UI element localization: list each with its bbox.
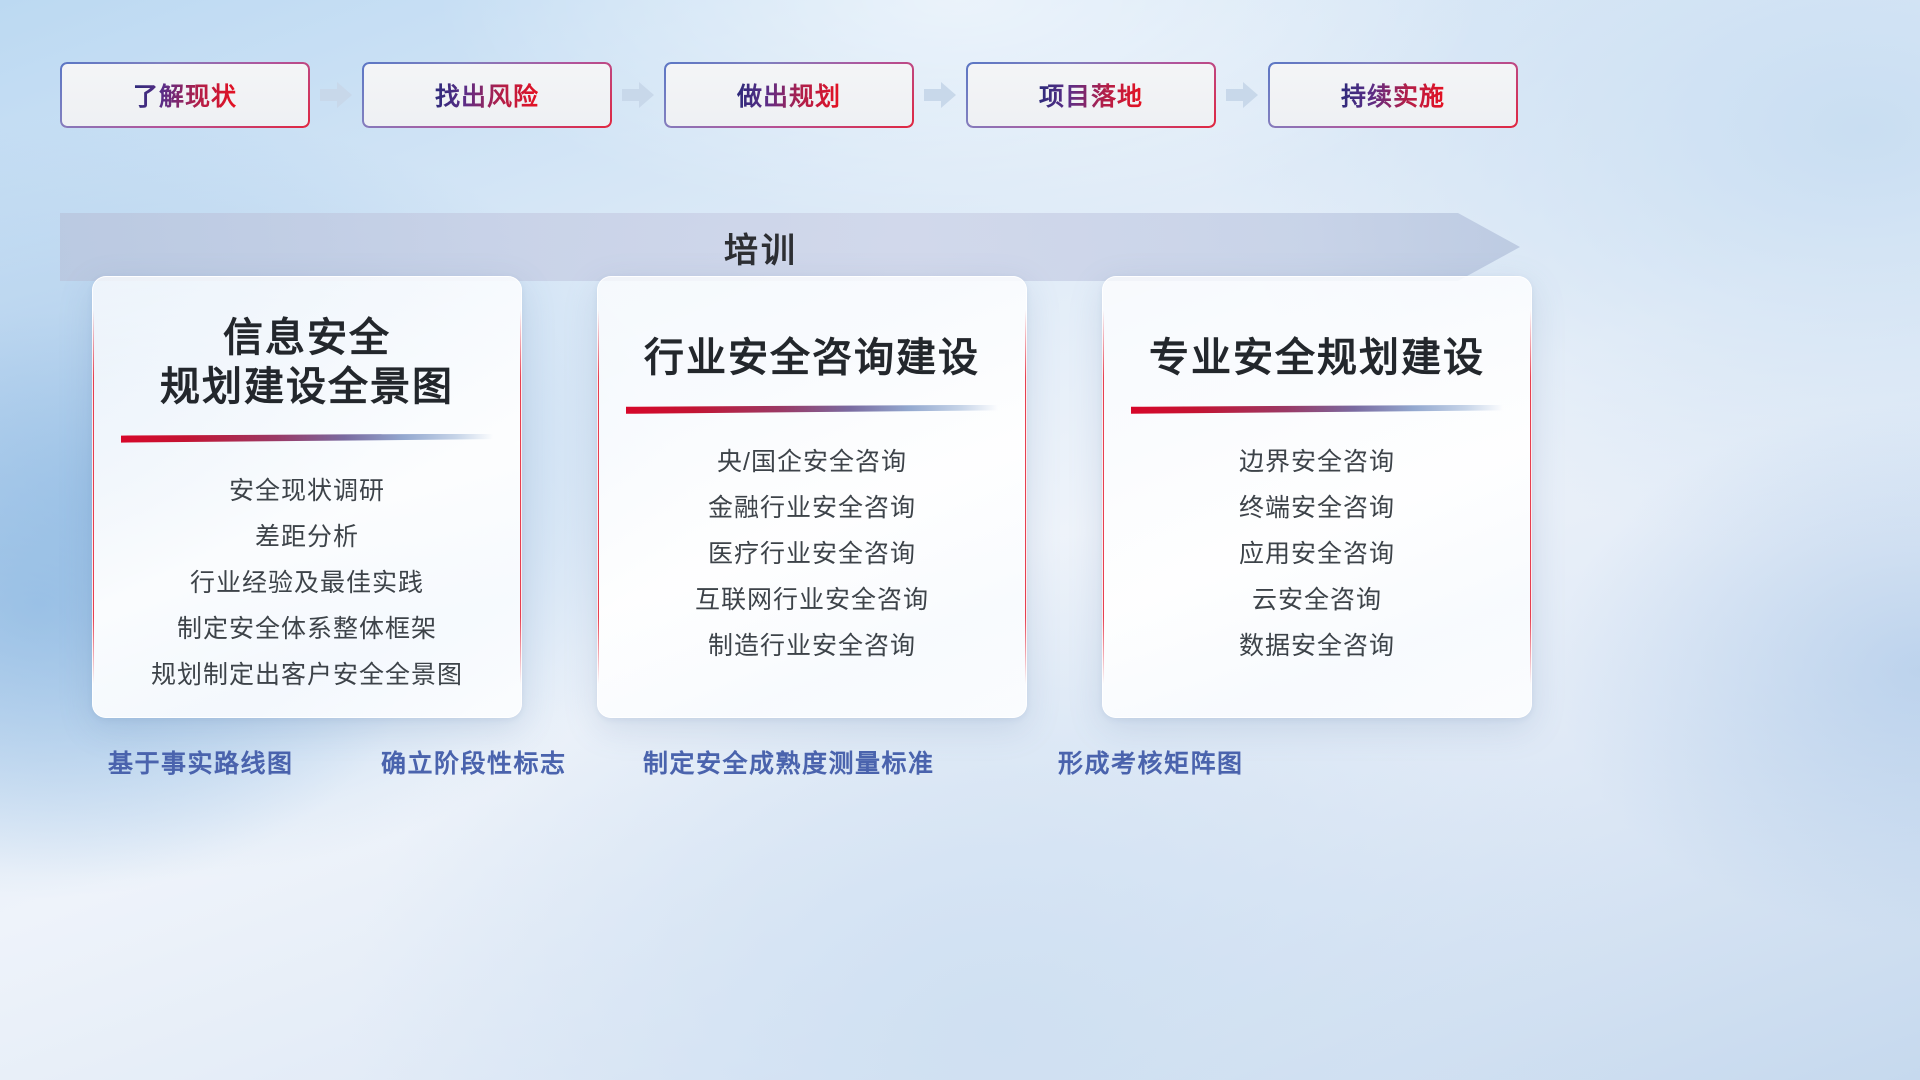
list-item: 金融行业安全咨询 xyxy=(597,486,1027,532)
card-divider xyxy=(121,434,493,443)
arrow-right-icon xyxy=(914,75,966,115)
card-title: 信息安全 规划建设全景图 xyxy=(120,276,494,412)
process-step-label: 做出规划 xyxy=(737,77,841,113)
card-edge-right xyxy=(520,310,522,684)
arrow-right-icon xyxy=(310,75,362,115)
list-item: 行业经验及最佳实践 xyxy=(92,561,522,607)
card-edge-left xyxy=(1102,310,1104,684)
card-item-list: 央/国企安全咨询 金融行业安全咨询 医疗行业安全咨询 互联网行业安全咨询 制造行… xyxy=(597,440,1027,670)
card-title: 专业安全规划建设 xyxy=(1130,276,1504,383)
process-step-5[interactable]: 持续实施 xyxy=(1268,62,1518,128)
process-step-label: 持续实施 xyxy=(1341,77,1445,113)
card-edge-left xyxy=(597,310,599,684)
process-step-label: 了解现状 xyxy=(133,77,237,113)
list-item: 终端安全咨询 xyxy=(1102,486,1532,532)
training-banner: 培训 xyxy=(60,213,1520,281)
arrow-right-icon xyxy=(612,75,664,115)
list-item: 数据安全咨询 xyxy=(1102,624,1532,670)
card-divider xyxy=(626,405,998,414)
card-item-list: 边界安全咨询 终端安全咨询 应用安全咨询 云安全咨询 数据安全咨询 xyxy=(1102,440,1532,670)
list-item: 应用安全咨询 xyxy=(1102,532,1532,578)
process-step-label: 找出风险 xyxy=(435,77,539,113)
card-industry-security-consulting[interactable]: 行业安全咨询建设 央/国企安全咨询 金融行业安全咨询 医疗行业安全咨询 互联网行… xyxy=(597,276,1027,718)
card-information-security-blueprint[interactable]: 信息安全 规划建设全景图 安全现状调研 差距分析 行业经验及最佳实践 制定安全体… xyxy=(92,276,522,718)
card-edge-right xyxy=(1025,310,1027,684)
list-item: 制定安全体系整体框架 xyxy=(92,607,522,653)
arrow-right-icon xyxy=(1216,75,1268,115)
list-item: 制造行业安全咨询 xyxy=(597,624,1027,670)
card-edge-right xyxy=(1530,310,1532,684)
list-item: 边界安全咨询 xyxy=(1102,440,1532,486)
footnote-label: 确立阶段性标志 xyxy=(381,744,567,780)
process-step-label: 项目落地 xyxy=(1039,77,1143,113)
card-professional-security-planning[interactable]: 专业安全规划建设 边界安全咨询 终端安全咨询 应用安全咨询 云安全咨询 数据安全… xyxy=(1102,276,1532,718)
card-title: 行业安全咨询建设 xyxy=(625,276,999,383)
card-edge-left xyxy=(92,310,94,684)
process-step-1[interactable]: 了解现状 xyxy=(60,62,310,128)
card-row: 信息安全 规划建设全景图 安全现状调研 差距分析 行业经验及最佳实践 制定安全体… xyxy=(92,276,1532,718)
list-item: 云安全咨询 xyxy=(1102,578,1532,624)
footnote-label: 基于事实路线图 xyxy=(108,744,294,780)
card-item-list: 安全现状调研 差距分析 行业经验及最佳实践 制定安全体系整体框架 规划制定出客户… xyxy=(92,469,522,699)
card-divider xyxy=(1131,405,1503,414)
footnote-label: 制定安全成熟度测量标准 xyxy=(643,744,935,780)
footnote-row: 基于事实路线图 确立阶段性标志 制定安全成熟度测量标准 形成考核矩阵图 xyxy=(0,744,1920,788)
list-item: 互联网行业安全咨询 xyxy=(597,578,1027,624)
process-step-4[interactable]: 项目落地 xyxy=(966,62,1216,128)
process-step-3[interactable]: 做出规划 xyxy=(664,62,914,128)
list-item: 规划制定出客户安全全景图 xyxy=(92,653,522,699)
list-item: 差距分析 xyxy=(92,515,522,561)
process-step-row: 了解现状 找出风险 做出规划 项目落地 持续实施 xyxy=(60,62,1860,128)
footnote-label: 形成考核矩阵图 xyxy=(1058,744,1244,780)
process-step-2[interactable]: 找出风险 xyxy=(362,62,612,128)
list-item: 医疗行业安全咨询 xyxy=(597,532,1027,578)
list-item: 央/国企安全咨询 xyxy=(597,440,1027,486)
list-item: 安全现状调研 xyxy=(92,469,522,515)
training-banner-label: 培训 xyxy=(60,213,1520,281)
